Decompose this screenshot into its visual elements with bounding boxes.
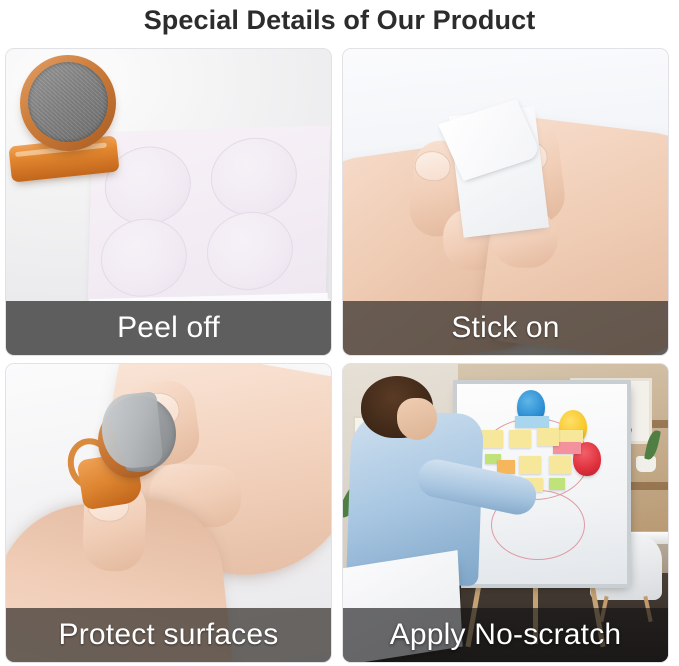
tile-caption-apply-no-scratch: Apply No-scratch — [343, 608, 668, 662]
feature-tile-peel-off: Peel off — [5, 48, 332, 356]
sticky-note — [549, 456, 571, 474]
round-label — [100, 218, 188, 298]
feature-tile-stick-on: Stick on — [342, 48, 669, 356]
adhesive-label-sheet — [88, 126, 330, 300]
person-face — [397, 398, 437, 440]
round-label — [206, 211, 294, 291]
tile-caption-stick-on: Stick on — [343, 301, 668, 355]
round-label — [210, 137, 298, 217]
sticky-note — [519, 456, 541, 474]
magnet-pin — [20, 55, 116, 151]
page-title: Special Details of Our Product — [0, 0, 679, 44]
sticky-note — [549, 478, 565, 490]
feature-tile-grid: Peel off Stick on — [5, 48, 674, 663]
magnet-metal-disc — [28, 62, 108, 142]
sticky-note — [515, 416, 549, 428]
feature-tile-protect-surfaces: Protect surfaces — [5, 363, 332, 663]
feature-tile-apply-no-scratch: Apply No-scratch — [342, 363, 669, 663]
sticky-note — [509, 430, 531, 448]
sticky-note — [481, 430, 503, 448]
tile-caption-peel-off: Peel off — [6, 301, 331, 355]
tile-caption-protect-surfaces: Protect surfaces — [6, 608, 331, 662]
sticky-note — [537, 428, 559, 446]
product-detail-infographic: Special Details of Our Product — [0, 0, 679, 666]
